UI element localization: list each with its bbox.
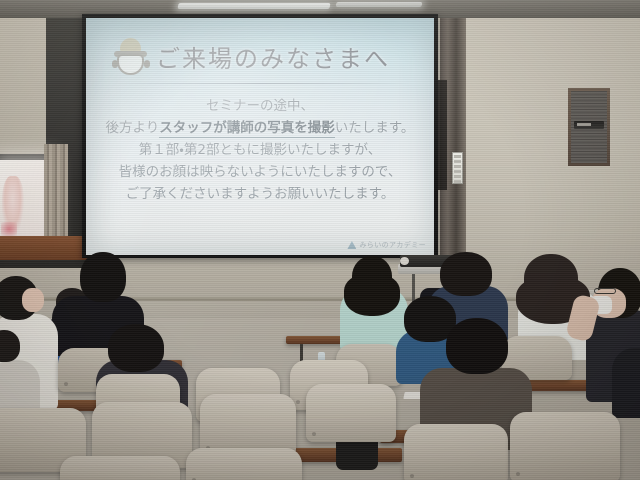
line-2-pre: 後方より — [106, 120, 160, 136]
chair[interactable] — [404, 424, 508, 480]
glasses-icon — [594, 288, 616, 294]
mascot-character-icon — [112, 36, 150, 76]
slide-body: セミナーの途中、 後方よりスタッフが講師の写真を撮影いたします。 第１部・第2部… — [100, 95, 420, 205]
slide-header: ご来場のみなさまへ — [100, 36, 420, 76]
chair[interactable] — [306, 384, 396, 442]
slide-body-line-1: セミナーの途中、 — [100, 95, 420, 117]
slide-logo: みらいのアカデミー — [347, 240, 426, 250]
ceiling-light-fixture — [177, 3, 330, 9]
slide-body-line-3: 第１部・第2部ともに撮影いたしますが、 — [100, 139, 420, 161]
projector-lens-icon — [400, 257, 409, 265]
chair[interactable] — [510, 412, 620, 480]
left-wall-upper-panel — [0, 18, 46, 154]
line-5-text: ご了承くださいますようお願いいたします。 — [126, 186, 395, 202]
line-2-post: いたします。 — [335, 120, 415, 136]
chair[interactable] — [186, 448, 302, 480]
slide-body-line-5: ご了承くださいますようお願いいたします。 — [100, 183, 420, 205]
window-pink-object — [1, 222, 17, 236]
doorway-opening — [438, 80, 447, 190]
logo-mark-icon — [347, 241, 356, 249]
screenshot-root: ご来場のみなさまへ セミナーの途中、 後方よりスタッフが講師の写真を撮影いたしま… — [0, 0, 640, 480]
projection-screen-frame: ご来場のみなさまへ セミナーの途中、 後方よりスタッフが講師の写真を撮影いたしま… — [82, 14, 438, 258]
chair[interactable] — [200, 394, 296, 456]
slide-body-line-4: 皆様のお顔は映らないようにいたしますので、 — [100, 161, 420, 183]
wall-speaker-icon — [568, 88, 610, 166]
projection-screen: ご来場のみなさまへ セミナーの途中、 後方よりスタッフが講師の写真を撮影いたしま… — [86, 18, 434, 255]
ceiling-light-fixture-secondary — [335, 2, 422, 7]
presentation-slide: ご来場のみなさまへ セミナーの途中、 後方よりスタッフが講師の写真を撮影いたしま… — [86, 18, 434, 255]
line-4-text: 皆様のお顔は映らないようにいたしますので、 — [119, 164, 402, 180]
line-2-emphasis: スタッフが講師の写真を撮影 — [159, 120, 335, 138]
chair[interactable] — [60, 456, 180, 480]
slide-body-line-2: 後方よりスタッフが講師の写真を撮影いたします。 — [100, 117, 420, 139]
light-switch-panel[interactable] — [452, 152, 463, 184]
line-1-text: セミナーの途中、 — [206, 98, 314, 114]
line-3-text: 第１部・第2部ともに撮影いたしますが、 — [139, 142, 381, 158]
left-wooden-shelf — [0, 236, 90, 260]
logo-text: みらいのアカデミー — [359, 240, 426, 250]
slide-title-divider — [110, 83, 410, 84]
slide-title: ご来場のみなさまへ — [156, 39, 390, 74]
